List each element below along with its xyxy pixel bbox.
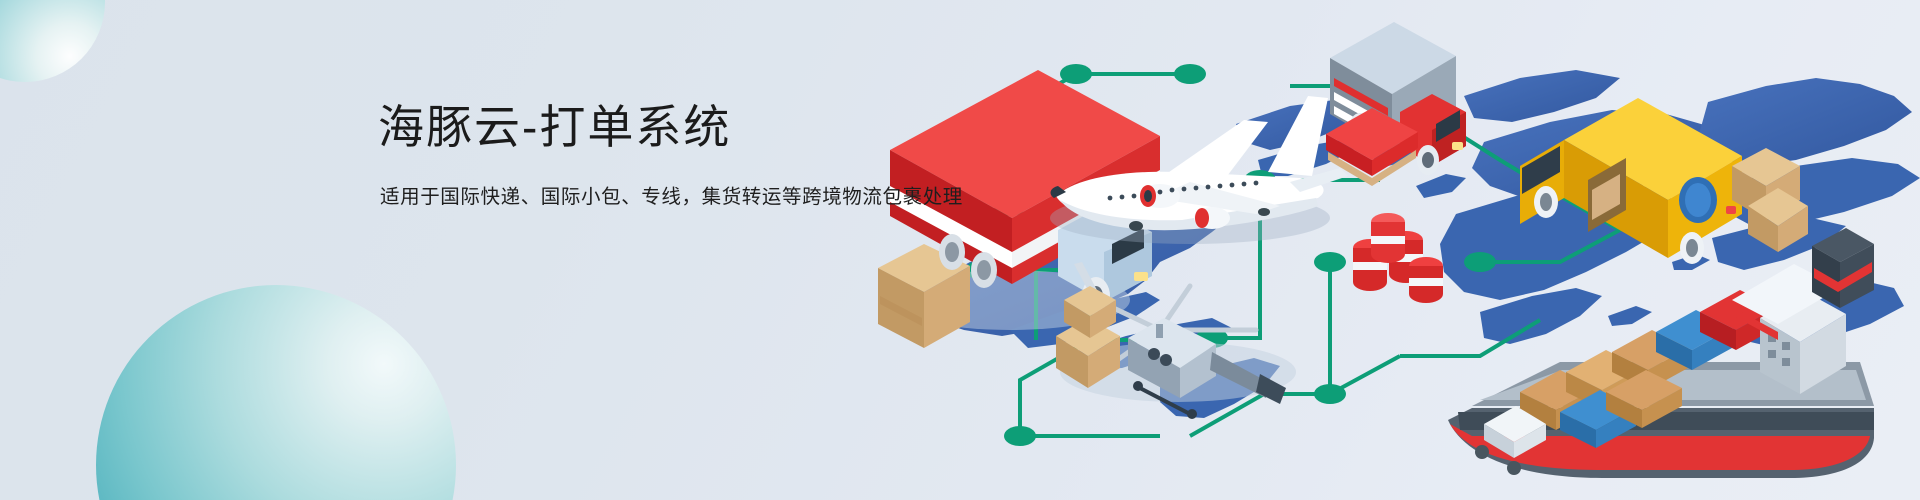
banner-subtitle: 适用于国际快递、国际小包、专线，集货转运等跨境物流包裹处理 bbox=[380, 188, 963, 208]
decorative-sphere-top-left bbox=[0, 0, 105, 82]
oil-barrels bbox=[1353, 213, 1443, 303]
cardboard-boxes bbox=[1056, 286, 1120, 388]
banner-title: 海豚云-打单系统 bbox=[378, 104, 963, 150]
decorative-sphere-bottom-left bbox=[96, 285, 456, 500]
logistics-illustration bbox=[860, 0, 1920, 500]
promo-banner: 海豚云-打单系统 适用于国际快递、国际小包、专线，集货转运等跨境物流包裹处理 bbox=[0, 0, 1920, 500]
banner-copy: 海豚云-打单系统 适用于国际快递、国际小包、专线，集货转运等跨境物流包裹处理 bbox=[378, 104, 963, 208]
